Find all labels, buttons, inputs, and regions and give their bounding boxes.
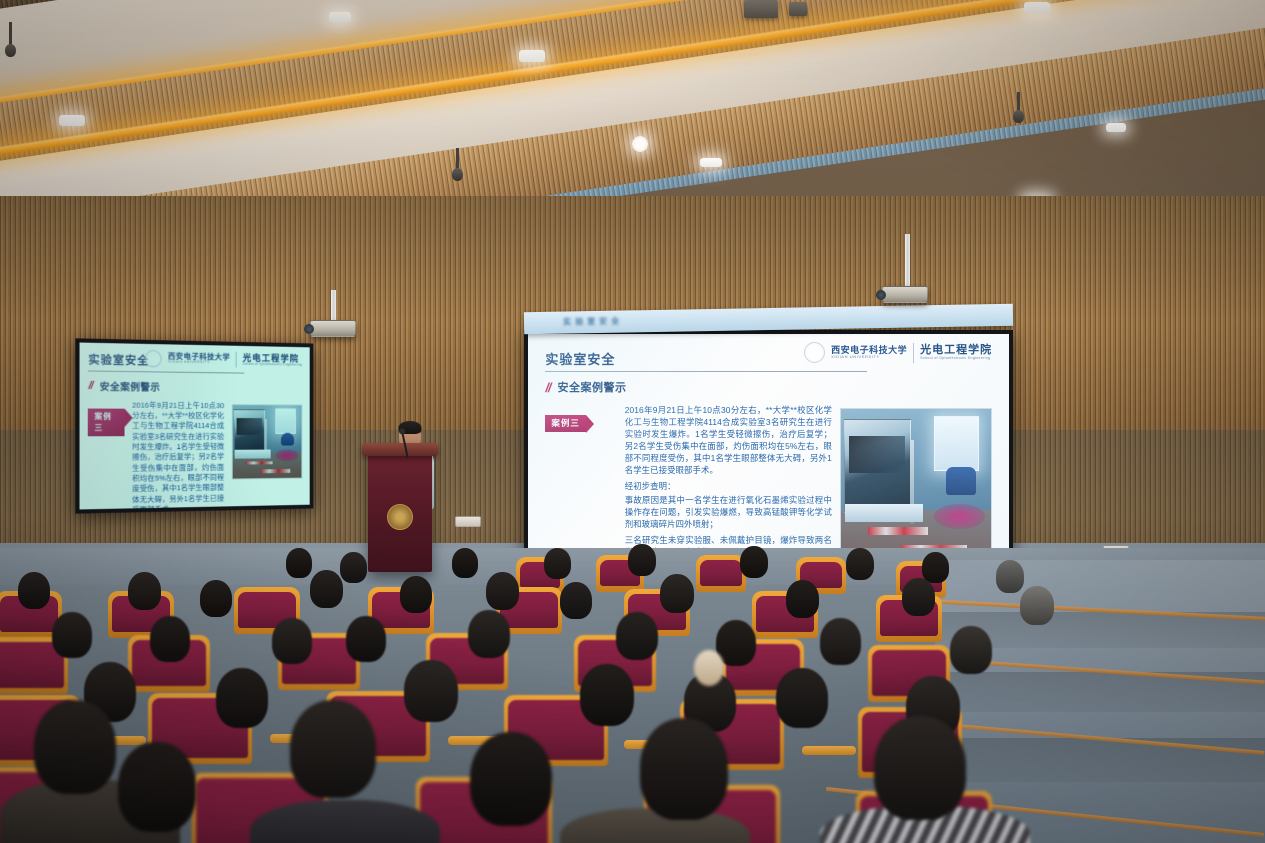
logo-divider-left	[236, 352, 237, 368]
ceiling-speaker-1	[744, 0, 778, 18]
case-paragraph-1-right: 2016年9月21日上午10点30分左右，**大学**校区化学化工与生物工程学院…	[625, 405, 832, 477]
case-text-right: 2016年9月21日上午10点30分左右，**大学**校区化学化工与生物工程学院…	[625, 405, 832, 563]
audience-head	[200, 580, 232, 617]
audience-head	[340, 552, 367, 583]
ceiling-downlight-6	[1024, 2, 1050, 13]
audience-head	[486, 572, 519, 610]
ceiling-downlight-5	[700, 158, 722, 167]
podium-emblem-icon	[387, 504, 413, 530]
audience-head	[286, 548, 312, 578]
audience-head	[52, 612, 92, 658]
lab-accident-photo-left	[232, 404, 302, 479]
podium	[368, 452, 432, 572]
department-name-en-left: School of Optoelectronic Engineering	[243, 363, 302, 367]
audience-head	[560, 582, 592, 619]
audience-head	[628, 544, 656, 576]
case-paragraph-3-right: 事故原因是其中一名学生在进行氧化石墨烯实验过程中操作存在问题，引发实验爆燃，导致…	[625, 495, 832, 531]
case-tag-col-right: 案例三	[545, 405, 616, 563]
audience-head	[902, 578, 935, 616]
ceiling-downlight-7	[1106, 123, 1126, 132]
photo-col-right	[840, 405, 992, 563]
audience-head	[776, 668, 828, 728]
audience-head	[290, 700, 376, 798]
audience-head	[820, 618, 861, 665]
projector-pole-left	[331, 290, 336, 322]
audience-head	[34, 700, 116, 794]
audience-head	[346, 616, 386, 662]
overhead-banner-text: 实验室安全	[563, 315, 623, 327]
projector-left	[310, 320, 356, 337]
projector-pole-right	[905, 234, 910, 287]
audience-head	[452, 548, 478, 578]
audience-head	[470, 732, 552, 826]
auditorium-scene: 实验室安全 // 安全案例警示 西安电子科技大学 XIDIAN UNIVERSI…	[0, 0, 1265, 843]
audience-head	[660, 574, 694, 613]
audience-head	[616, 612, 658, 660]
audience-head	[216, 668, 268, 728]
seat	[700, 560, 742, 586]
section-label-left: 安全案例警示	[100, 378, 161, 393]
audience-head	[786, 580, 819, 618]
case-paragraph-2-right: 经初步查明：	[625, 481, 832, 493]
audience-head	[118, 742, 196, 832]
university-name-en-left: XIDIAN UNIVERSITY	[168, 361, 230, 366]
ceiling-downlight-3	[59, 115, 85, 126]
ceiling-downlight-4	[632, 136, 648, 152]
audience-head	[846, 548, 874, 580]
audience-head	[150, 616, 190, 662]
case-tag-right: 案例三	[545, 415, 586, 432]
university-seal-icon-right	[804, 342, 825, 363]
ceiling-downlight-1	[329, 12, 351, 22]
audience-head	[950, 626, 992, 674]
audience-head	[874, 716, 966, 820]
audience-head	[128, 572, 161, 610]
wall-power-outlet-1	[455, 516, 481, 527]
case-paragraph-1-left: 2016年9月21日上午10点30分左右，**大学**校区化学化工与生物工程学院…	[132, 400, 224, 509]
department-name-cn-right: 光电工程学院	[920, 345, 992, 357]
title-rule-left	[88, 370, 244, 373]
pendant-light-2	[456, 148, 459, 172]
audience-head	[1020, 586, 1054, 625]
case-tag-left: 案例三	[88, 408, 124, 436]
audience-head	[18, 572, 50, 609]
audience-head	[922, 552, 949, 583]
pendant-light-3	[1017, 92, 1020, 114]
audience-head	[468, 610, 510, 658]
section-label-right: 安全案例警示	[558, 379, 627, 395]
audience-head	[404, 660, 458, 722]
projection-screen-right: 实验室安全 // 安全案例警示 西安电子科技大学 XIDIAN UNIVERSI…	[524, 330, 1013, 575]
photo-col-left	[232, 401, 302, 510]
audience-head	[272, 618, 312, 664]
university-name-en-right: XIDIAN UNIVERSITY	[831, 355, 907, 359]
seat-armrest	[802, 746, 856, 755]
slide-left: 实验室安全 // 安全案例警示 西安电子科技大学 XIDIAN UNIVERSI…	[80, 343, 310, 510]
podium-top-surface	[362, 443, 438, 456]
projection-screen-left: 实验室安全 // 安全案例警示 西安电子科技大学 XIDIAN UNIVERSI…	[75, 338, 313, 513]
lab-accident-photo-right	[840, 408, 992, 563]
case-text-left: 2016年9月21日上午10点30分左右，**大学**校区化学化工与生物工程学院…	[132, 400, 224, 509]
audience-head	[996, 560, 1024, 593]
title-rule-right	[545, 371, 866, 372]
ceiling-downlight-2	[519, 50, 545, 62]
pendant-light-1	[9, 22, 12, 48]
university-seal-icon-left	[145, 350, 162, 367]
section-marker-right: //	[545, 380, 550, 395]
projector-right	[882, 286, 928, 303]
audience-head	[400, 576, 432, 613]
audience-head	[310, 570, 343, 608]
logo-right: 西安电子科技大学 XIDIAN UNIVERSITY 光电工程学院 School…	[804, 342, 992, 363]
slide-right: 实验室安全 // 安全案例警示 西安电子科技大学 XIDIAN UNIVERSI…	[528, 334, 1009, 571]
audience-head	[580, 664, 634, 726]
audience-head	[544, 548, 571, 579]
section-marker-left: //	[88, 379, 92, 391]
audience-head	[740, 546, 768, 578]
logo-left: 西安电子科技大学 XIDIAN UNIVERSITY 光电工程学院 School…	[145, 350, 302, 370]
case-tag-col-left: 案例三	[88, 400, 124, 510]
audience-head	[640, 718, 728, 820]
ceiling-speaker-2	[789, 2, 807, 16]
department-name-en-right: School of Optoelectronic Engineering	[920, 357, 992, 361]
hair-clip	[694, 650, 724, 686]
logo-divider-right	[913, 343, 914, 363]
